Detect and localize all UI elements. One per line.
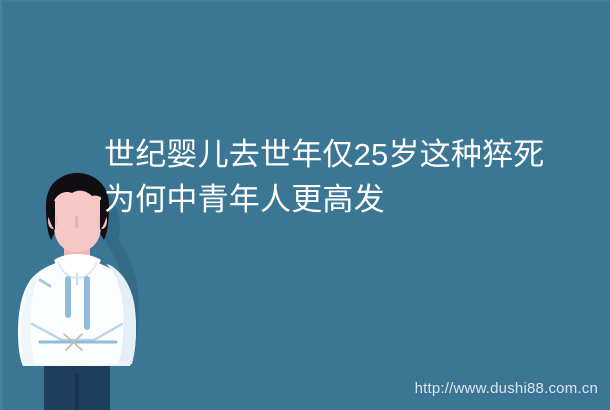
- banner-top-edge: [0, 0, 610, 2]
- banner-left-edge: [0, 0, 3, 410]
- figure-hoodie: [18, 254, 136, 366]
- figure-nose: [75, 216, 78, 228]
- page-title: 世纪婴儿去世年仅25岁这种猝死 为何中青年人更高发: [104, 132, 564, 222]
- article-banner-image: 世纪婴儿去世年仅25岁这种猝死 为何中青年人更高发 http://www.dus…: [0, 0, 610, 410]
- watermark-url: http://www.dushi88.com.cn: [415, 380, 598, 397]
